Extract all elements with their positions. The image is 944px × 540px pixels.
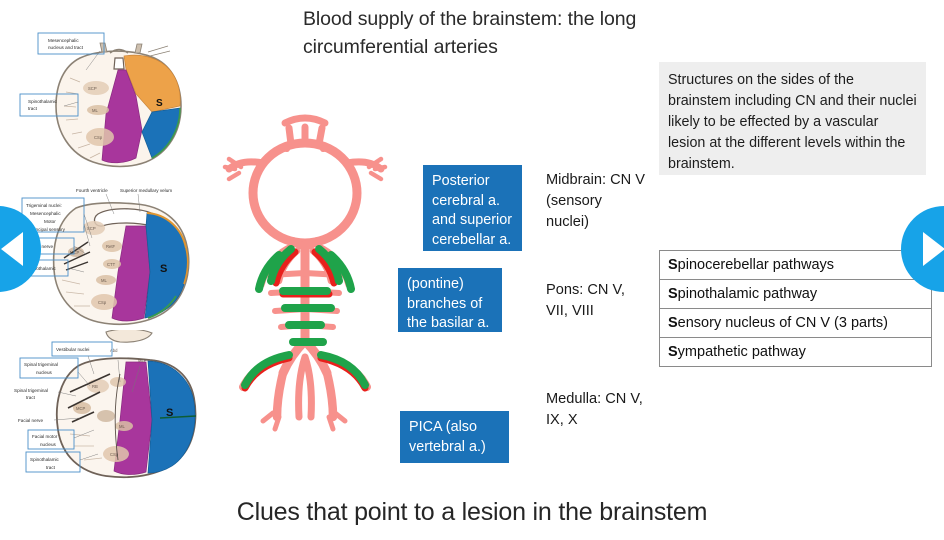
- list-item: Spinocerebellar pathways: [660, 251, 931, 280]
- callout-label-spinothalamic-tract-l1: Spinothalamic: [30, 457, 60, 462]
- callout-label-spinal-trigeminal-nucleus-l1: Spinal trigeminal: [24, 362, 58, 367]
- s-marker-pons: S: [160, 263, 167, 275]
- artery-label-pica: PICA (also vertebral a.): [400, 411, 509, 463]
- callout-label-facial-motor-nucleus-l2: nucleus: [40, 442, 57, 447]
- structure-label-ml: ML: [101, 278, 107, 283]
- page-title: Blood supply of the brainstem: the long …: [303, 6, 723, 61]
- info-panel: Structures on the sides of the brainstem…: [659, 62, 926, 175]
- tectum-fibers: [148, 46, 170, 56]
- structure-label-ml: ML: [119, 424, 125, 429]
- structure-label-csp: CSp: [98, 300, 107, 305]
- vertebral-arteries-descending: [277, 373, 333, 417]
- callout-label-trigeminal-nuclei: Trigeminal nuclei:: [26, 203, 62, 208]
- callout-label-fourth-ventricle: Fourth ventricle: [76, 188, 108, 193]
- anterior-cerebral-arteries: [289, 127, 322, 144]
- callout-label-spinal-trigeminal-tract-l1: Spinal trigeminal: [14, 388, 48, 393]
- s-marker-medulla: S: [166, 407, 173, 419]
- slide-caption: Clues that point to a lesion in the brai…: [0, 498, 944, 527]
- structure-label-scp: SCP: [88, 86, 97, 91]
- level-label-pons: Pons: CN V, VII, VIII: [546, 280, 646, 322]
- artery-label-pontine: (pontine) branches of the basilar a.: [398, 268, 502, 332]
- info-panel-text: Structures on the sides of the brainstem…: [668, 72, 917, 172]
- callout-label-motor: Motor: [44, 219, 56, 224]
- callout-label-vestibular-nuclei: Vestibular nuclei: [56, 347, 89, 352]
- chevron-left-icon: [1, 232, 23, 266]
- list-item-label: ensory nucleus of CN V (3 parts): [678, 315, 888, 331]
- callout-label-spinothalamic-line1: Spinothalamic: [28, 99, 58, 104]
- anatomy-figure-midbrain: SCP ML CSp S Mesencephalic nucleus and t…: [18, 22, 216, 180]
- anterior-spinal-artery: [299, 357, 312, 417]
- slide-canvas: Blood supply of the brainstem: the long …: [0, 0, 944, 540]
- structure-label-mcp: MCP: [76, 406, 86, 411]
- structure-facial-motor-nucleus: [97, 410, 115, 422]
- structure-label-rb: RB: [92, 384, 98, 389]
- level-label-medulla: Medulla: CN V, IX, X: [546, 389, 656, 431]
- s-marker-midbrain: S: [156, 98, 163, 109]
- callout-label-spinothalamic-tract-l2: tract: [46, 465, 56, 470]
- anatomy-figure-medulla: RB MCP Abd MLF ML CSp S: [14, 330, 216, 482]
- list-item-initial: S: [668, 257, 678, 273]
- callout-box-mesencephalic: [38, 33, 104, 54]
- callout-label-facial-motor-nucleus-l1: Facial motor: [32, 434, 58, 439]
- section-fragment-above: [106, 330, 152, 342]
- structure-ml: [87, 105, 109, 115]
- tectum-stalk-left: [100, 43, 107, 52]
- chevron-right-icon: [923, 232, 944, 266]
- list-item-initial: S: [668, 344, 678, 360]
- cerebral-aqueduct: [114, 58, 124, 69]
- callout-label-mesencephalic: Mesencephalic: [30, 211, 61, 216]
- list-item: Spinothalamic pathway: [660, 280, 931, 309]
- callout-label-spinal-trigeminal-tract-l2: tract: [26, 395, 36, 400]
- anatomy-figure-pons: SCP RetF CTT ML CSp MCP S Fourth ventric…: [14, 180, 216, 328]
- tectum-stalk-right: [135, 44, 142, 53]
- callout-label-spinal-trigeminal-nucleus-l2: nucleus: [36, 370, 53, 375]
- structure-label-abd: Abd: [110, 348, 118, 353]
- callout-label-superior-medullary-velum: Superior medullary velum: [120, 188, 172, 193]
- callout-label-mesencephalic-line2: nucleus and tract: [48, 45, 84, 50]
- callout-label-mesencephalic-line1: Mesencephalic: [48, 38, 79, 43]
- artery-label-pca: Posterior cerebral a. and superior cereb…: [423, 165, 522, 251]
- s-clues-list: Spinocerebellar pathways Spinothalamic p…: [659, 250, 932, 367]
- list-item-label: pinothalamic pathway: [678, 286, 817, 302]
- level-label-midbrain: Midbrain: CN V (sensory nuclei): [546, 170, 646, 233]
- structure-label-ctt: CTT: [107, 262, 116, 267]
- callout-label-facial-nerve: Facial nerve: [18, 418, 43, 423]
- structure-label-retf: RetF: [106, 244, 116, 249]
- list-item-label: ympathetic pathway: [678, 344, 806, 360]
- list-item: Sensory nucleus of CN V (3 parts): [660, 309, 931, 338]
- list-item-initial: S: [668, 315, 678, 331]
- structure-label-mlf: MLF: [138, 358, 147, 363]
- callout-label-spinothalamic-line2: tract: [28, 106, 38, 111]
- anterior-communicating-artery: [285, 118, 325, 123]
- structure-label-csp: CSp: [94, 135, 103, 140]
- structure-rb: [87, 379, 109, 393]
- list-item: Sympathetic pathway: [660, 338, 931, 367]
- structure-label-ml: ML: [92, 108, 98, 113]
- list-item-label: pinocerebellar pathways: [678, 257, 834, 273]
- list-item-initial: S: [668, 286, 678, 302]
